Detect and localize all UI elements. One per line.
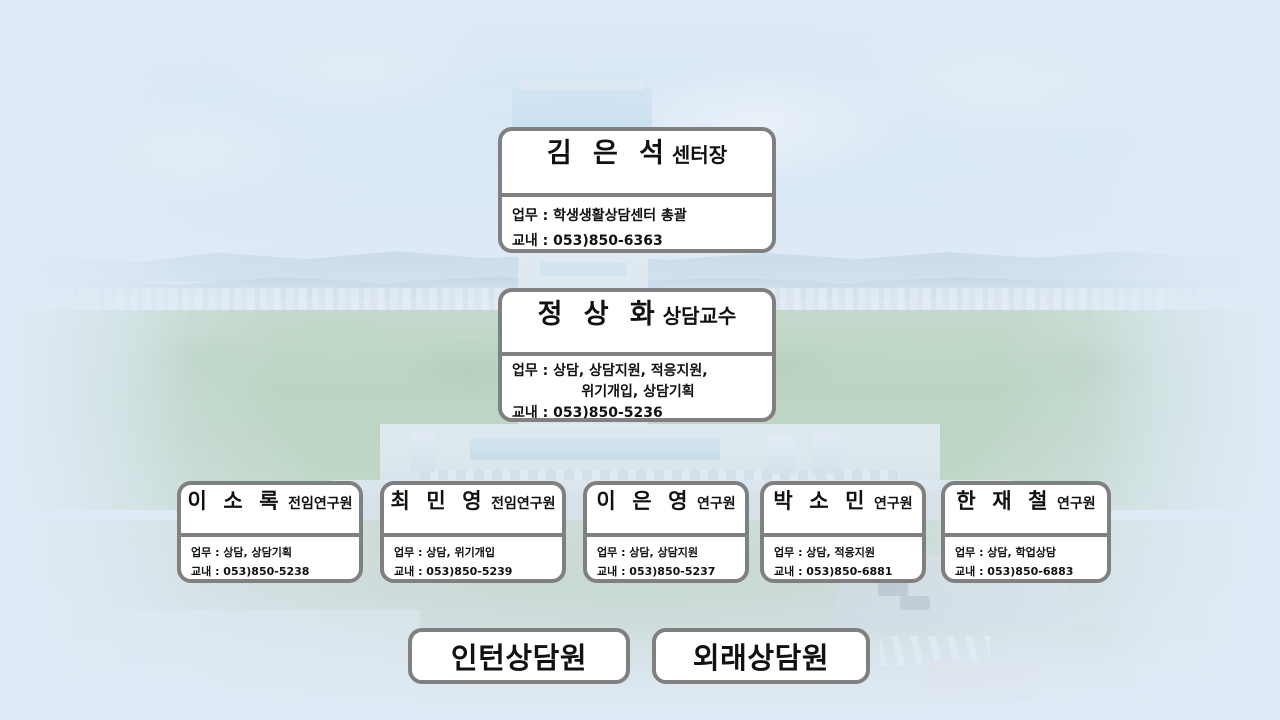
org-node-external-counselor[interactable]: 외래상담원 (652, 628, 870, 684)
org-node-staff[interactable]: 이 은 영 연구원 업무 : 상담, 상담지원 교내 : 053)850-523… (583, 481, 749, 583)
lower-building (120, 610, 420, 720)
professor-details: 업무 : 상담, 상담지원, 적응지원, 위기개입, 상담기획 교내 : 053… (502, 356, 772, 422)
staff-details: 업무 : 상담, 상담지원 교내 : 053)850-5237 (587, 537, 745, 581)
staff-phone: 교내 : 053)850-6883 (955, 562, 1107, 581)
intern-counselor-label: 인턴상담원 (451, 635, 587, 677)
org-node-director[interactable]: 김 은 석 센터장 업무 : 학생생활상담센터 총괄 교내 : 053)850-… (498, 127, 776, 253)
director-name: 김 은 석 (547, 131, 670, 170)
staff-header: 박 소 민 연구원 (764, 485, 922, 533)
director-duty: 업무 : 학생생활상담센터 총괄 (512, 204, 772, 229)
tower-roof-cap (520, 80, 644, 90)
org-node-staff[interactable]: 최 민 영 전임연구원 업무 : 상담, 위기개입 교내 : 053)850-5… (380, 481, 566, 583)
staff-duty: 업무 : 상담, 위기개입 (394, 543, 562, 562)
professor-title: 상담교수 (663, 300, 737, 329)
staff-phone: 교내 : 053)850-6881 (774, 562, 922, 581)
roof-tank-right (812, 434, 842, 474)
staff-title: 연구원 (874, 493, 913, 513)
parked-car (900, 596, 930, 610)
professor-duty-line-2: 위기개입, 상담기획 (512, 382, 772, 403)
staff-phone: 교내 : 053)850-5238 (191, 562, 359, 581)
org-node-professor[interactable]: 정 상 화 상담교수 업무 : 상담, 상담지원, 적응지원, 위기개입, 상담… (498, 288, 776, 422)
professor-header: 정 상 화 상담교수 (502, 292, 772, 352)
director-phone: 교내 : 053)850-6363 (512, 229, 772, 253)
roof-tank-mid (768, 436, 796, 474)
staff-title: 전임연구원 (288, 493, 352, 513)
staff-details: 업무 : 상담, 적응지원 교내 : 053)850-6881 (764, 537, 922, 581)
roof-tank-left (410, 432, 436, 472)
staff-phone: 교내 : 053)850-5237 (597, 562, 745, 581)
org-chart-stage: 김 은 석 센터장 업무 : 학생생활상담센터 총괄 교내 : 053)850-… (0, 0, 1280, 720)
staff-name: 박 소 민 (773, 485, 869, 515)
org-node-staff[interactable]: 한 재 철 연구원 업무 : 상담, 학업상담 교내 : 053)850-688… (941, 481, 1111, 583)
director-header: 김 은 석 센터장 (502, 131, 772, 193)
staff-details: 업무 : 상담, 위기개입 교내 : 053)850-5239 (384, 537, 562, 581)
staff-name: 한 재 철 (956, 485, 1052, 515)
staff-phone: 교내 : 053)850-5239 (394, 562, 562, 581)
professor-duty-line-1: 업무 : 상담, 상담지원, 적응지원, (512, 361, 772, 382)
building-glass-band (470, 438, 720, 460)
staff-title: 연구원 (697, 493, 736, 513)
staff-header: 이 은 영 연구원 (587, 485, 745, 533)
parked-car (878, 582, 908, 596)
staff-duty: 업무 : 상담, 상담지원 (597, 543, 745, 562)
tower-antenna-mast (578, 60, 581, 82)
shrubbery (1020, 600, 1190, 690)
tower-signage (540, 262, 626, 276)
org-node-staff[interactable]: 박 소 민 연구원 업무 : 상담, 적응지원 교내 : 053)850-688… (760, 481, 926, 583)
staff-name: 이 소 록 (187, 485, 283, 515)
staff-header: 이 소 록 전임연구원 (181, 485, 359, 533)
org-node-intern-counselor[interactable]: 인턴상담원 (408, 628, 630, 684)
staff-header: 한 재 철 연구원 (945, 485, 1107, 533)
staff-name: 이 은 영 (596, 485, 692, 515)
staff-details: 업무 : 상담, 상담기획 교내 : 053)850-5238 (181, 537, 359, 581)
director-details: 업무 : 학생생활상담센터 총괄 교내 : 053)850-6363 (502, 197, 772, 253)
staff-duty: 업무 : 상담, 상담기획 (191, 543, 359, 562)
director-title: 센터장 (672, 139, 727, 168)
staff-details: 업무 : 상담, 학업상담 교내 : 053)850-6883 (945, 537, 1107, 581)
staff-duty: 업무 : 상담, 적응지원 (774, 543, 922, 562)
staff-title: 전임연구원 (491, 493, 555, 513)
staff-duty: 업무 : 상담, 학업상담 (955, 543, 1107, 562)
professor-name: 정 상 화 (538, 292, 661, 331)
professor-phone: 교내 : 053)850-5236 (512, 403, 772, 422)
staff-name: 최 민 영 (390, 485, 486, 515)
org-node-staff[interactable]: 이 소 록 전임연구원 업무 : 상담, 상담기획 교내 : 053)850-5… (177, 481, 363, 583)
external-counselor-label: 외래상담원 (693, 635, 829, 677)
staff-header: 최 민 영 전임연구원 (384, 485, 562, 533)
staff-title: 연구원 (1057, 493, 1096, 513)
